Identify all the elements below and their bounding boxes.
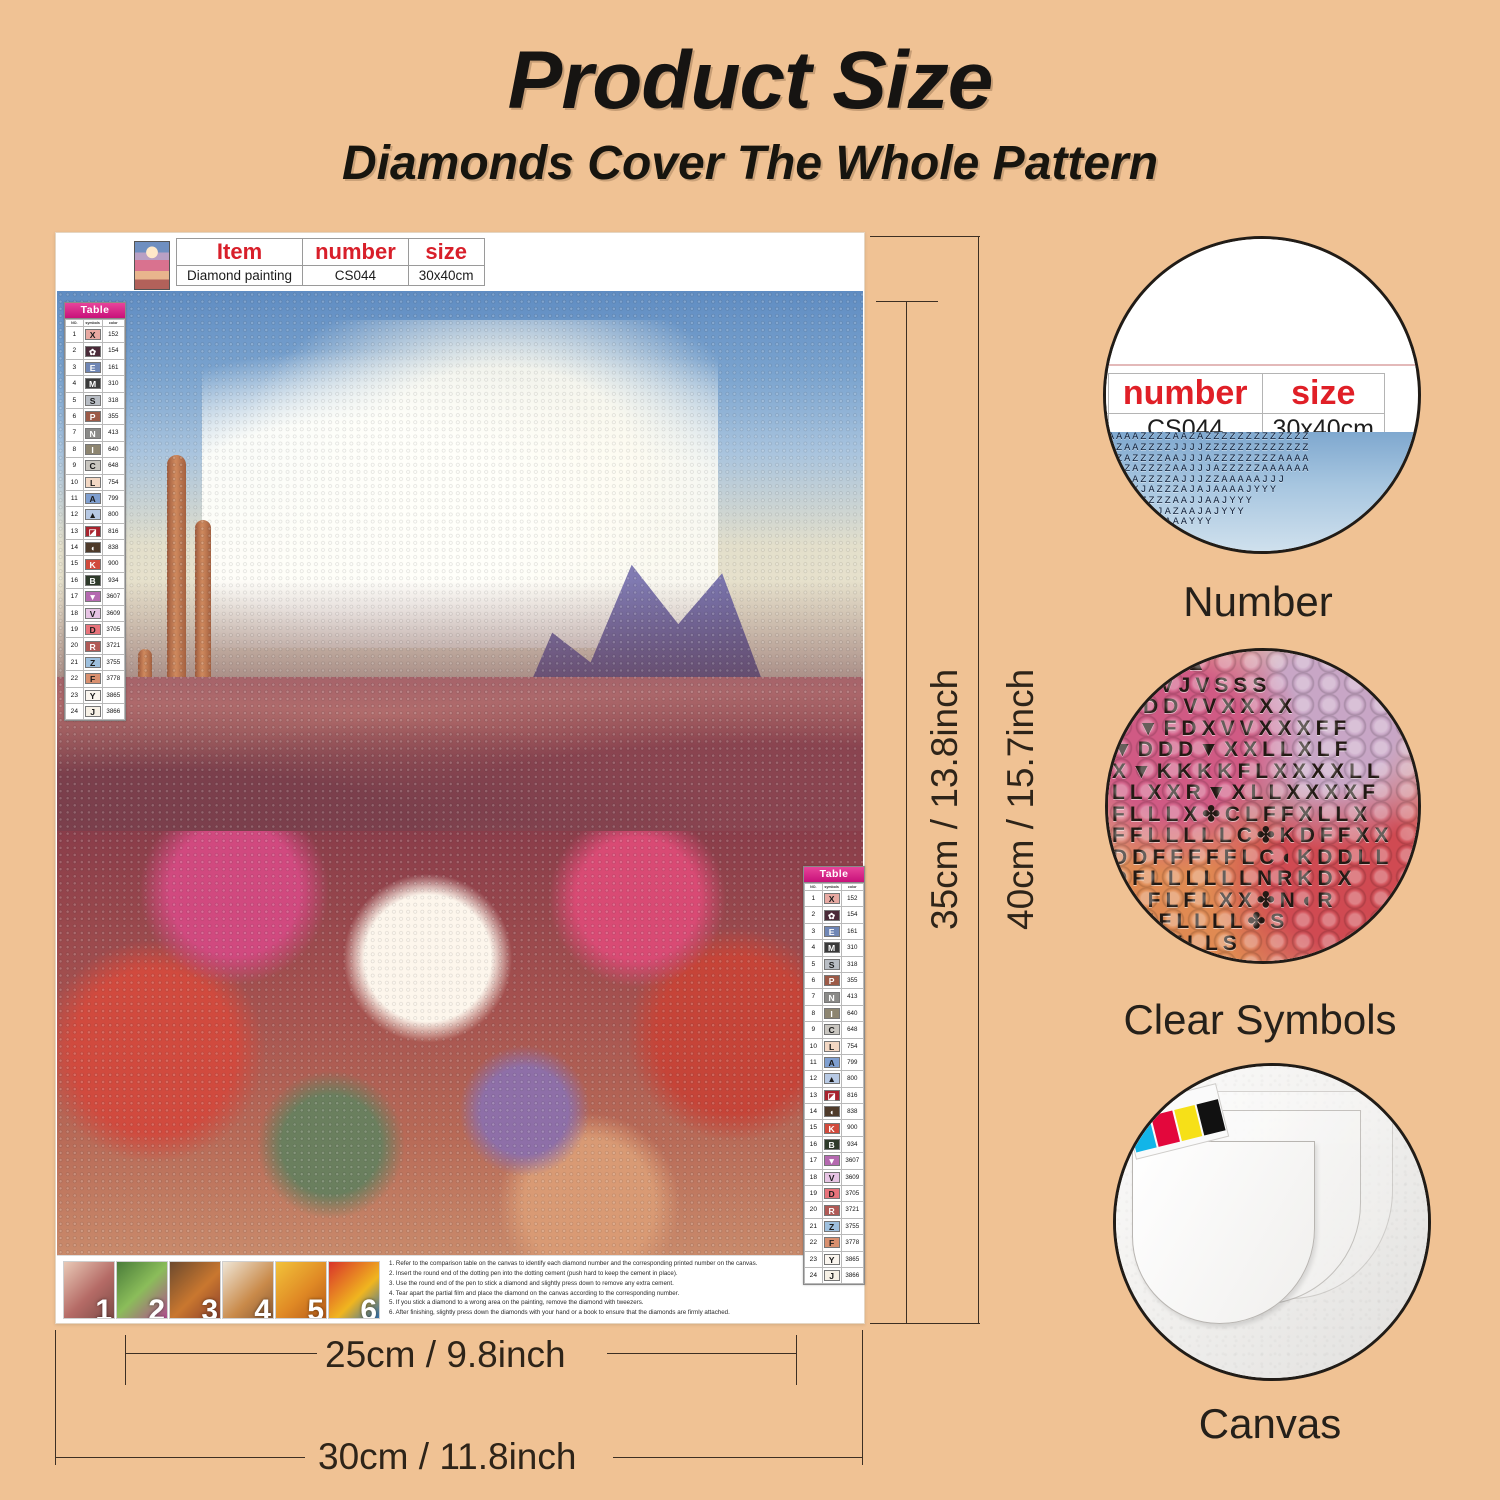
legend-row: 22F3778 [66,671,125,687]
legend-cell-color: 413 [841,989,863,1005]
dimension-tick-outer-top [870,236,980,237]
legend-cell-color: 318 [841,956,863,972]
legend-cell-color: 838 [841,1104,863,1120]
legend-row: 23Y3865 [66,687,125,703]
legend-cell-no: 17 [805,1153,823,1169]
legend-cell-no: 24 [66,703,84,719]
legend-row: 8I640 [66,441,125,457]
legend-cell-symbol: K [822,1120,841,1136]
zoomed-symbol-grid: AAAAZZZZAAZAZZZZZZZZZZZZZ ZZAAZZZZJJJJZZ… [1106,432,1418,551]
instruction-line: 2. Insert the round end of the dotting p… [389,1270,857,1279]
legend-cell-symbol: F [83,671,102,687]
legend-cell-color: 816 [841,1087,863,1103]
step-thumbnail: 5 [275,1261,327,1319]
legend-cell-no: 14 [66,540,84,556]
step-thumbnail: 6 [328,1261,380,1319]
legend-row: 11A799 [66,490,125,506]
diamond-bead-overlay [57,291,863,1255]
instruction-line: 6. After finishing, slightly press down … [389,1309,857,1318]
dimension-label-outer-height: 40cm / 15.7inch [1000,669,1042,930]
legend-row: 12▲800 [805,1071,864,1087]
instruction-step-thumbnails: 1 2 3 4 5 6 [63,1261,380,1319]
legend-cell-symbol: ✿ [83,343,102,359]
dimension-line-inner-width-right [607,1353,797,1354]
legend-cell-no: 10 [66,474,84,490]
step-number: 6 [360,1296,377,1319]
legend-cell-symbol: ◪ [83,523,102,539]
legend-row: 20R3721 [805,1202,864,1218]
legend-row: 21Z3755 [66,654,125,670]
dimension-tick-outer-bottom [870,1323,980,1324]
legend-cell-symbol: B [822,1136,841,1152]
legend-symbol-glyph: X [85,329,101,340]
legend-row: 6P355 [805,972,864,988]
legend-symbol-glyph: ▲ [85,509,101,520]
dimension-label-inner-height: 35cm / 13.8inch [924,669,966,930]
circle-white-top [1106,239,1418,370]
dimension-line-outer-width-left [55,1457,305,1458]
legend-cell-symbol: S [83,392,102,408]
step-number: 4 [254,1296,271,1319]
feature-circle-number: number size ting CS044 30x40cm AAAAZZZZA… [1103,236,1421,554]
legend-cell-symbol: M [83,376,102,392]
legend-cell-color: 934 [102,572,124,588]
legend-symbol-glyph: N [824,992,840,1003]
legend-cell-symbol: C [822,1022,841,1038]
legend-cell-no: 4 [66,376,84,392]
legend-symbol-glyph: Y [85,690,101,701]
legend-cell-symbol: J [822,1267,841,1283]
legend-row: 19D3705 [805,1186,864,1202]
legend-cell-color: 3755 [841,1218,863,1234]
legend-row: 3E161 [805,923,864,939]
legend-cell-symbol: ✿ [822,907,841,923]
legend-cell-symbol: Y [83,687,102,703]
legend-cell-no: 1 [66,327,84,343]
legend-cell-no: 9 [805,1022,823,1038]
legend-cell-symbol: A [83,490,102,506]
dimension-line-outer-width-right [613,1457,863,1458]
legend-symbol-glyph: ▼ [824,1155,840,1166]
dimension-label-outer-width: 30cm / 11.8inch [318,1436,576,1478]
legend-cell-no: 12 [66,507,84,523]
legend-cell-symbol: R [822,1202,841,1218]
legend-row: 24J3866 [805,1267,864,1283]
legend-cell-symbol: D [83,622,102,638]
legend-cell-no: 13 [66,523,84,539]
legend-cell-symbol: V [822,1169,841,1185]
legend-cell-no: 8 [66,441,84,457]
feature-label-number: Number [1048,578,1468,626]
dimension-line-outer-vertical [978,236,979,1324]
legend-row: 1X152 [805,891,864,907]
step-thumbnail: 2 [116,1261,168,1319]
legend-row: 10L754 [805,1038,864,1054]
legend-cell-symbol: P [822,972,841,988]
legend-cell-symbol: D [822,1186,841,1202]
legend-symbol-glyph: F [824,1237,840,1248]
legend-row: 9C648 [66,458,125,474]
legend-cell-color: 161 [102,359,124,375]
legend-cell-symbol: C [83,458,102,474]
legend-col-symbol: symbols [83,320,102,327]
legend-cell-symbol: ◖ [822,1104,841,1120]
legend-cell-no: 15 [805,1120,823,1136]
step-thumbnail: 4 [222,1261,274,1319]
legend-symbol-glyph: J [824,1270,840,1281]
legend-cell-no: 19 [66,622,84,638]
legend-cell-symbol: ▲ [83,507,102,523]
legend-cell-no: 2 [805,907,823,923]
dimension-tick-inner-left [125,1335,126,1385]
legend-cell-no: 23 [66,687,84,703]
item-value-size: 30x40cm [408,266,484,286]
legend-cell-no: 9 [66,458,84,474]
legend-symbol-glyph: I [85,444,101,455]
symbol-legend-table-left: Table NO. symbols color 1X1522✿1543E1614… [64,302,126,721]
legend-cell-color: 154 [102,343,124,359]
legend-symbol-glyph: P [85,411,101,422]
legend-symbol-glyph: ◖ [824,1106,840,1117]
instruction-line: 5. If you stick a diamond to a wrong are… [389,1299,857,1308]
legend-cell-symbol: E [83,359,102,375]
legend-cell-no: 20 [66,638,84,654]
legend-cell-color: 900 [102,556,124,572]
instruction-strip: 1 2 3 4 5 6 1. Refer to the comparison t… [57,1255,863,1323]
legend-symbol-glyph: C [824,1024,840,1035]
legend-cell-color: 648 [102,458,124,474]
legend-cell-symbol: X [822,891,841,907]
legend-row: 19D3705 [66,622,125,638]
legend-row: 13◪816 [805,1087,864,1103]
legend-row: 22F3778 [805,1235,864,1251]
legend-symbol-glyph: Y [824,1254,840,1265]
dimension-label-inner-width: 25cm / 9.8inch [325,1334,566,1376]
legend-cell-color: 152 [102,327,124,343]
legend-symbol-glyph: M [85,378,101,389]
legend-cell-no: 4 [805,940,823,956]
legend-cell-no: 21 [66,654,84,670]
legend-row: 5S318 [66,392,125,408]
legend-symbol-glyph: I [824,1008,840,1019]
legend-cell-color: 3866 [841,1267,863,1283]
legend-cell-no: 22 [66,671,84,687]
legend-body: 1X1522✿1543E1614M3105S3186P3557N4138I640… [66,327,125,720]
dimension-tick-outer-left [55,1330,56,1465]
legend-cell-symbol: V [83,605,102,621]
legend-row: 2✿154 [66,343,125,359]
legend-cell-no: 3 [66,359,84,375]
legend-cell-color: 800 [841,1071,863,1087]
legend-cell-symbol: N [822,989,841,1005]
page-title: Product Size [0,34,1500,128]
instruction-line: 3. Use the round end of the pen to stick… [389,1280,857,1289]
legend-symbol-glyph: ▲ [824,1073,840,1084]
legend-row: 7N413 [805,989,864,1005]
legend-cell-no: 16 [805,1136,823,1152]
product-size-infographic: Product Size Diamonds Cover The Whole Pa… [0,0,1500,1500]
legend-cell-no: 22 [805,1235,823,1251]
legend-symbol-glyph: S [85,395,101,406]
instruction-line: 4. Tear apart the partial film and place… [389,1290,857,1299]
legend-cell-color: 3607 [102,589,124,605]
legend-col-no: NO. [66,320,84,327]
legend-cell-no: 18 [66,605,84,621]
item-header-item: Item [177,238,303,266]
legend-cell-color: 3866 [102,703,124,719]
step-number: 1 [95,1296,112,1319]
legend-cell-no: 5 [66,392,84,408]
legend-cell-color: 648 [841,1022,863,1038]
legend-cell-color: 799 [102,490,124,506]
legend-cell-color: 640 [841,1005,863,1021]
legend-symbol-glyph: A [824,1057,840,1068]
legend-row: 2✿154 [805,907,864,923]
legend-cell-no: 13 [805,1087,823,1103]
legend-cell-color: 800 [102,507,124,523]
legend-cell-color: 640 [102,441,124,457]
legend-row: 4M310 [805,940,864,956]
legend-cell-symbol: I [83,441,102,457]
step-number: 2 [148,1296,165,1319]
legend-cell-color: 413 [102,425,124,441]
item-header-size: size [408,238,484,266]
legend-row: 12▲800 [66,507,125,523]
legend-cell-no: 18 [805,1169,823,1185]
legend-cell-color: 934 [841,1136,863,1152]
legend-row: 21Z3755 [805,1218,864,1234]
legend-col-no: NO. [805,884,823,891]
step-number: 3 [201,1296,218,1319]
legend-symbol-glyph: C [85,460,101,471]
legend-cell-color: 3609 [841,1169,863,1185]
legend-symbol-glyph: A [85,493,101,504]
legend-cell-color: 161 [841,923,863,939]
symbols-character-grid: YJJ▲ FVVJVSSS DDDVVXXXX ▼▼FDXVVXXXFF ▼DD… [1108,651,1418,961]
legend-cell-no: 15 [66,556,84,572]
legend-symbol-glyph: N [85,428,101,439]
page-subtitle: Diamonds Cover The Whole Pattern [0,136,1500,191]
legend-symbol-glyph: P [824,975,840,986]
legend-row: 4M310 [66,376,125,392]
legend-cell-symbol: Z [83,654,102,670]
legend-row: 13◪816 [66,523,125,539]
legend-col-color: color [841,884,863,891]
legend-cell-symbol: L [83,474,102,490]
legend-cell-symbol: A [822,1054,841,1070]
feature-label-clear-symbols: Clear Symbols [1050,996,1470,1044]
legend-cell-no: 6 [66,408,84,424]
legend-cell-color: 152 [841,891,863,907]
legend-cell-symbol: X [83,327,102,343]
step-thumbnail: 3 [169,1261,221,1319]
legend-row: 14◖838 [805,1104,864,1120]
legend-cell-no: 10 [805,1038,823,1054]
legend-symbol-glyph: B [824,1139,840,1150]
legend-row: 18V3609 [66,605,125,621]
legend-cell-color: 3609 [102,605,124,621]
legend-symbol-glyph: L [824,1041,840,1052]
item-header-strip: Item number size Diamond painting CS044 … [56,233,864,291]
legend-row: 14◖838 [66,540,125,556]
legend-cell-color: 355 [102,408,124,424]
legend-cell-no: 17 [66,589,84,605]
legend-row: 3E161 [66,359,125,375]
diamond-pattern-artwork [57,291,863,1255]
legend-cell-symbol: R [83,638,102,654]
legend-caption: Table [65,303,125,319]
legend-row: 5S318 [805,956,864,972]
legend-row: 1X152 [66,327,125,343]
legend-symbol-glyph: ◪ [85,526,101,537]
legend-cell-color: 3778 [841,1235,863,1251]
legend-cell-no: 8 [805,1005,823,1021]
legend-cell-no: 23 [805,1251,823,1267]
legend-cell-symbol: J [83,703,102,719]
item-header-number: number [303,238,409,266]
legend-symbol-glyph: S [824,959,840,970]
legend-cell-symbol: M [822,940,841,956]
legend-cell-symbol: ▼ [822,1153,841,1169]
legend-symbol-glyph: V [85,608,101,619]
legend-cell-no: 19 [805,1186,823,1202]
circle-divider-rule [1106,364,1418,366]
legend-col-symbol: symbols [822,884,841,891]
legend-cell-symbol: F [822,1235,841,1251]
step-number: 5 [307,1296,324,1319]
legend-symbol-glyph: D [824,1188,840,1199]
legend-symbol-glyph: R [824,1205,840,1216]
legend-cell-color: 3755 [102,654,124,670]
legend-row: 6P355 [66,408,125,424]
legend-cell-no: 21 [805,1218,823,1234]
legend-cell-color: 3721 [102,638,124,654]
legend-cell-no: 14 [805,1104,823,1120]
legend-row: 23Y3865 [805,1251,864,1267]
legend-symbol-glyph: J [85,706,101,717]
legend-cell-color: 3778 [102,671,124,687]
legend-cell-no: 3 [805,923,823,939]
legend-cell-color: 310 [841,940,863,956]
dimension-tick-inner-top [876,301,938,302]
dimension-tick-inner-right [796,1335,797,1385]
legend-cell-color: 3607 [841,1153,863,1169]
legend-row: 10L754 [66,474,125,490]
legend-cell-symbol: I [822,1005,841,1021]
legend-cell-symbol: ◖ [83,540,102,556]
legend-row: 8I640 [805,1005,864,1021]
dimension-line-inner-vertical [906,301,907,1323]
zoom-header-size: size [1262,374,1384,414]
legend-symbol-glyph: E [824,926,840,937]
legend-row: 15K900 [805,1120,864,1136]
legend-cell-color: 310 [102,376,124,392]
legend-cell-color: 754 [102,474,124,490]
legend-row: 17▼3607 [66,589,125,605]
legend-symbol-glyph: L [85,477,101,488]
legend-cell-symbol: B [83,572,102,588]
zoom-header-number: number [1108,374,1262,414]
item-value-number: CS044 [303,266,409,286]
legend-col-color: color [102,320,124,327]
legend-row: 9C648 [805,1022,864,1038]
legend-symbol-glyph: X [824,893,840,904]
legend-row: 16B934 [805,1136,864,1152]
product-thumbnail [134,241,170,290]
legend-cell-no: 1 [805,891,823,907]
legend-cell-symbol: S [822,956,841,972]
legend-body: 1X1522✿1543E1614M3105S3186P3557N4138I640… [805,891,864,1284]
legend-cell-no: 7 [805,989,823,1005]
legend-symbol-glyph: E [85,362,101,373]
legend-cell-no: 12 [805,1071,823,1087]
legend-row: 20R3721 [66,638,125,654]
feature-label-canvas: Canvas [1060,1400,1480,1448]
legend-cell-color: 3705 [102,622,124,638]
legend-symbol-glyph: V [824,1172,840,1183]
legend-cell-color: 3865 [102,687,124,703]
legend-symbol-glyph: F [85,673,101,684]
canvas-product-photo: Item number size Diamond painting CS044 … [55,232,865,1324]
legend-cell-no: 24 [805,1267,823,1283]
instruction-line: 1. Refer to the comparison table on the … [389,1260,857,1269]
legend-cell-color: 154 [841,907,863,923]
legend-row: 7N413 [66,425,125,441]
legend-symbol-glyph: ◖ [85,542,101,553]
legend-cell-symbol: P [83,408,102,424]
legend-cell-symbol: N [83,425,102,441]
legend-cell-symbol: ◪ [822,1087,841,1103]
legend-cell-color: 3705 [841,1186,863,1202]
item-value-name: Diamond painting [177,266,303,286]
legend-symbol-glyph: ✿ [85,346,101,357]
legend-cell-color: 799 [841,1054,863,1070]
feature-circle-clear-symbols: YJJ▲ FVVJVSSS DDDVVXXXX ▼▼FDXVVXXXFF ▼DD… [1105,648,1421,964]
legend-cell-no: 6 [805,972,823,988]
instruction-text-block: 1. Refer to the comparison table on the … [389,1260,857,1319]
legend-cell-no: 20 [805,1202,823,1218]
step-thumbnail: 1 [63,1261,115,1319]
dimension-tick-outer-right [862,1330,863,1465]
legend-row: 11A799 [805,1054,864,1070]
legend-row: 17▼3607 [805,1153,864,1169]
legend-row: 24J3866 [66,703,125,719]
legend-symbol-glyph: ✿ [824,910,840,921]
legend-symbol-glyph: R [85,641,101,652]
legend-symbol-glyph: Z [824,1221,840,1232]
legend-cell-color: 355 [841,972,863,988]
legend-cell-symbol: Y [822,1251,841,1267]
legend-cell-symbol: Z [822,1218,841,1234]
legend-cell-color: 318 [102,392,124,408]
legend-cell-symbol: ▲ [822,1071,841,1087]
item-info-table: Item number size Diamond painting CS044 … [176,238,485,287]
legend-cell-no: 16 [66,572,84,588]
legend-symbol-glyph: ◪ [824,1090,840,1101]
feature-circle-canvas [1113,1063,1431,1381]
legend-cell-color: 3721 [841,1202,863,1218]
legend-symbol-glyph: Z [85,657,101,668]
legend-row: 16B934 [66,572,125,588]
legend-symbol-glyph: K [824,1123,840,1134]
legend-cell-color: 838 [102,540,124,556]
legend-symbol-glyph: M [824,942,840,953]
symbol-legend-table-right: Table NO. symbols color 1X1522✿1543E1614… [803,866,865,1285]
dimension-line-inner-width-left [125,1353,317,1354]
legend-cell-no: 2 [66,343,84,359]
legend-cell-color: 754 [841,1038,863,1054]
legend-cell-color: 3865 [841,1251,863,1267]
